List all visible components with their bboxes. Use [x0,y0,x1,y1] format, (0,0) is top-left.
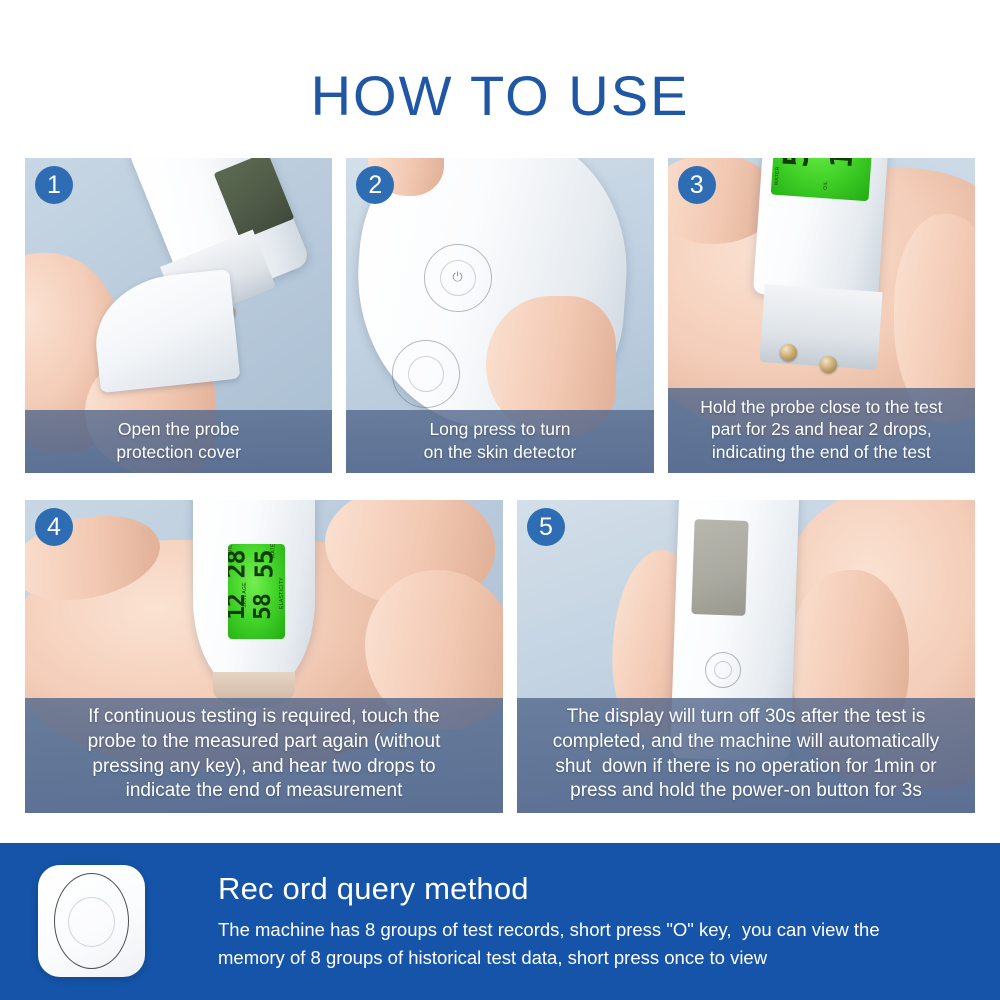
caption-line: If continuous testing is required, touch… [35,705,493,730]
lcd-label-water: WATER [773,166,780,185]
lcd-label-oil: OIL [822,181,829,190]
step-caption: The display will turn off 30s after the … [517,698,975,813]
lcd-label-skinage: SKIN AGE [242,582,248,608]
probe-pin [820,356,837,373]
caption-line: part for 2s and hear 2 drops, [674,418,969,440]
steps-row-bottom: 55 28 58 12 OIL WATER SKIN AGE ELASTICIT… [25,500,975,813]
caption-line: indicate the end of measurement [35,779,493,804]
step-panel-3[interactable]: 55 12 WATER OIL ELASTICITY SKIN AGE 3 Ho… [668,158,975,473]
steps-row-top: 1 Open the probe protection cover ⏻ 2 L [25,158,975,473]
power-button-inner-ring [714,661,732,679]
lcd-digit-skinage: 12 [824,158,861,169]
probe-pin [780,344,797,361]
step-panel-1[interactable]: 1 Open the probe protection cover [25,158,332,473]
banner-body-line: The machine has 8 groups of test records… [218,916,978,944]
lcd-digit-water: 55 [776,158,819,169]
caption-line: protection cover [31,441,326,463]
step-number-badge: 1 [35,166,73,204]
caption-line: The display will turn off 30s after the … [527,705,965,730]
caption-line: Hold the probe close to the test [674,396,969,418]
step-panel-4[interactable]: 55 28 58 12 OIL WATER SKIN AGE ELASTICIT… [25,500,503,813]
lcd-digit-elasticity: 58 [250,594,276,620]
caption-line: probe to the measured part again (withou… [35,730,493,755]
step-caption: Long press to turn on the skin detector [346,410,653,473]
caption-line: shut down if there is no operation for 1… [527,755,965,780]
step-caption: Open the probe protection cover [25,410,332,473]
device-display-off [691,519,748,616]
caption-line: on the skin detector [352,441,647,463]
caption-line: Long press to turn [352,418,647,440]
step-caption: If continuous testing is required, touch… [25,698,503,813]
device-display-green: 55 28 58 12 OIL WATER SKIN AGE ELASTICIT… [228,544,285,639]
banner-title: Rec ord query method [218,871,529,907]
step-number-badge: 5 [527,508,565,546]
step-number-badge: 3 [678,166,716,204]
power-icon: ⏻ [452,270,462,283]
circle-inner-ring [68,897,115,947]
caption-line: press and hold the power-on button for 3… [527,779,965,804]
step-panel-2[interactable]: ⏻ 2 Long press to turn on the skin detec… [346,158,653,473]
banner-body: The machine has 8 groups of test records… [218,916,978,972]
step-caption: Hold the probe close to the test part fo… [668,388,975,473]
probe-tip [759,284,882,370]
how-to-use-infographic: HOW TO USE 1 Open the probe pro [0,0,1000,1000]
caption-line: pressing any key), and hear two drops to [35,755,493,780]
record-query-banner: Rec ord query method The machine has 8 g… [0,843,1000,1000]
memory-key-icon[interactable] [38,865,145,977]
page-title: HOW TO USE [0,68,1000,124]
lcd-label-water: WATER [271,544,277,559]
device-display-green: 55 12 WATER OIL ELASTICITY SKIN AGE [770,158,875,201]
lcd-label-elasticity: ELASTICITY [279,577,285,609]
lcd-digit-oil: 28 [228,550,251,578]
step-number-badge: 4 [35,508,73,546]
lcd-label-oil: OIL [228,545,233,554]
caption-line: indicating the end of the test [674,441,969,463]
banner-body-line: memory of 8 groups of historical test da… [218,944,978,972]
caption-line: Open the probe [31,418,326,440]
step-panel-5[interactable]: 5 The display will turn off 30s after th… [517,500,975,813]
caption-line: completed, and the machine will automati… [527,730,965,755]
